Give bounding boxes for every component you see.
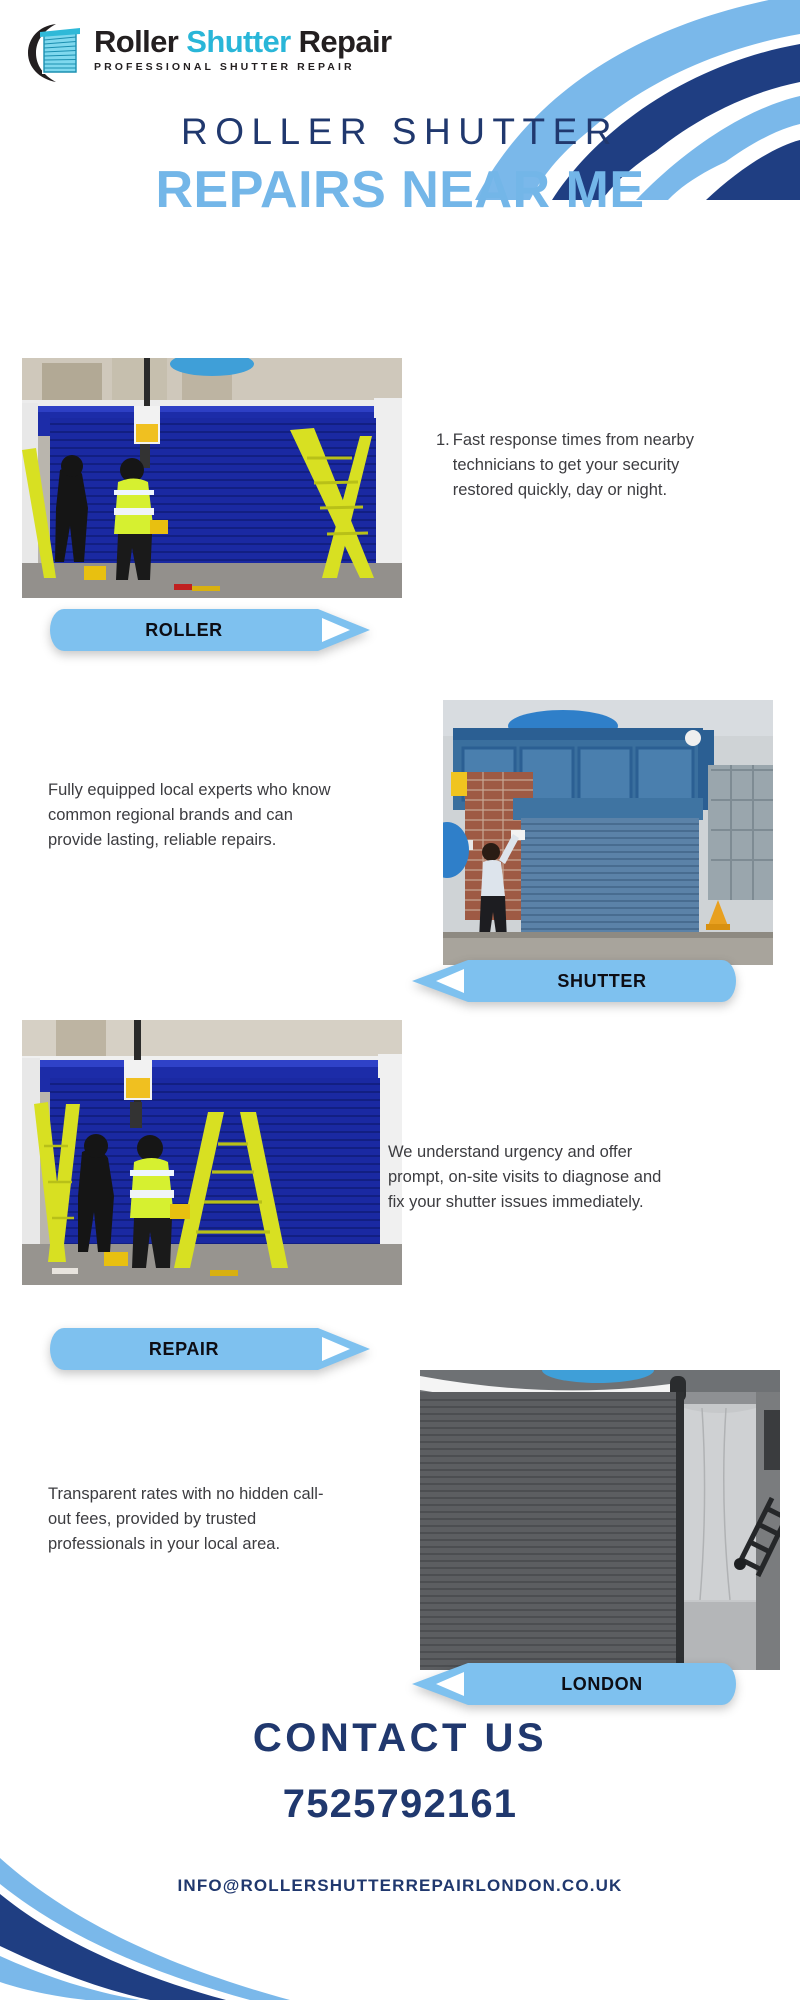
photo-image-4 (420, 1370, 780, 1670)
photo-svg-1 (22, 358, 402, 598)
headline-line-1: ROLLER SHUTTER (0, 112, 800, 153)
roller-shutter-logo-icon (26, 22, 90, 84)
contact-phone-row[interactable]: 7525792161 (0, 1782, 800, 1827)
photo-roller (22, 358, 402, 598)
photo-repair (22, 1020, 402, 1285)
contact-section: CONTACT US (0, 1716, 800, 1761)
infographic-page: Roller Shutter Repair PROFESSIONAL SHUTT… (0, 0, 800, 2000)
bottom-wave-svg (0, 1850, 460, 2000)
photo-svg-3 (22, 1020, 402, 1285)
photo-frame-4 (420, 1370, 780, 1670)
block-text-1: 1. Fast response times from nearby techn… (436, 428, 736, 503)
banner-roller[interactable]: ROLLER (50, 609, 370, 651)
brand-name-part2: Shutter (186, 24, 290, 59)
photo-image-1 (22, 358, 402, 598)
page-title: ROLLER SHUTTER REPAIRS NEAR ME (0, 112, 800, 218)
photo-image-2 (443, 700, 773, 965)
brand-name-part3: Repair (299, 24, 392, 59)
banner-london[interactable]: LONDON (412, 1663, 736, 1705)
contact-email-row[interactable]: INFO@ROLLERSHUTTERREPAIRLONDON.CO.UK (0, 1876, 800, 1896)
banner-repair[interactable]: REPAIR (50, 1328, 370, 1370)
banner-label-shutter: SHUTTER (412, 960, 736, 1002)
logo-icon-svg (26, 22, 90, 84)
block-number-1: 1. (436, 428, 453, 503)
contact-phone[interactable]: 7525792161 (0, 1782, 800, 1827)
contact-title: CONTACT US (0, 1716, 800, 1761)
photo-shutter (443, 700, 773, 965)
photo-frame-3 (22, 1020, 402, 1285)
photo-frame-2 (443, 700, 773, 965)
photo-image-3 (22, 1020, 402, 1285)
brand-name: Roller Shutter Repair (94, 26, 392, 58)
brand-name-part1: Roller (94, 24, 178, 59)
banner-label-london: LONDON (412, 1663, 736, 1705)
brand-text: Roller Shutter Repair PROFESSIONAL SHUTT… (94, 22, 392, 73)
contact-email[interactable]: INFO@ROLLERSHUTTERREPAIRLONDON.CO.UK (0, 1876, 800, 1896)
photo-svg-4 (420, 1370, 780, 1670)
banner-label-repair: REPAIR (50, 1328, 370, 1370)
block-text-4: Transparent rates with no hidden call-ou… (48, 1482, 338, 1557)
photo-svg-2 (443, 700, 773, 965)
headline-line-2: REPAIRS NEAR ME (0, 163, 800, 218)
banner-shutter[interactable]: SHUTTER (412, 960, 736, 1002)
brand-tagline: PROFESSIONAL SHUTTER REPAIR (94, 61, 392, 73)
block-text-2: Fully equipped local experts who know co… (48, 778, 338, 853)
bottom-wave-decoration (0, 1850, 460, 2000)
photo-london (420, 1370, 780, 1670)
brand-logo: Roller Shutter Repair PROFESSIONAL SHUTT… (26, 22, 392, 84)
banner-label-roller: ROLLER (50, 609, 370, 651)
block-body-1: Fast response times from nearby technici… (453, 428, 736, 503)
block-text-3: We understand urgency and offer prompt, … (388, 1140, 678, 1215)
photo-frame-1 (22, 358, 402, 598)
